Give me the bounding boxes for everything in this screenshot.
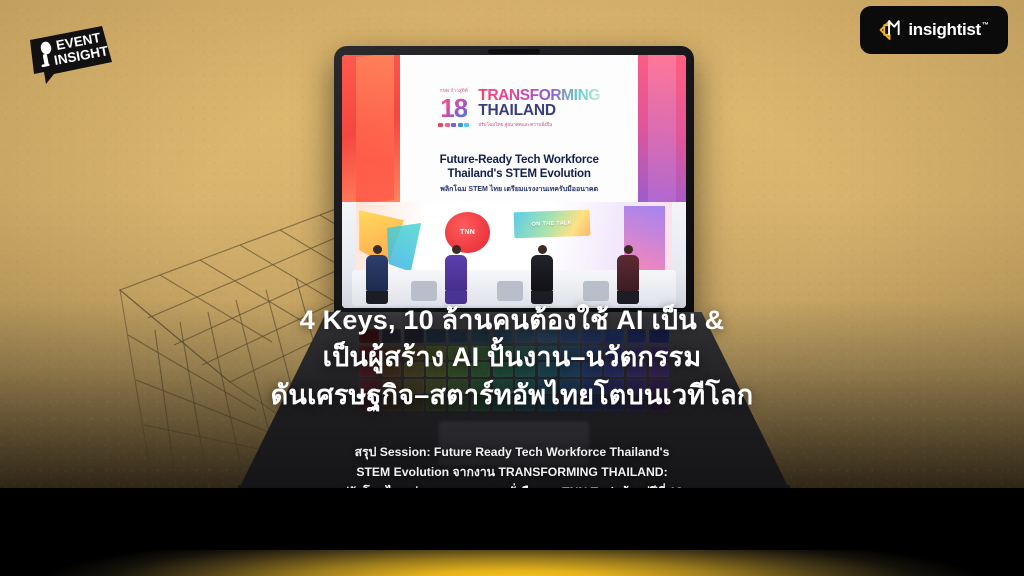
headline-line-2: เป็นผู้สร้าง AI ปั้นงาน–นวัตกรรม [40, 339, 984, 376]
headline: 4 Keys, 10 ล้านคนต้องใช้ AI เป็น & เป็นผ… [0, 302, 1024, 414]
session-title-block: Future-Ready Tech Workforce Thailand's S… [407, 146, 631, 202]
headline-line-3: ดันเศรษฐกิจ–สตาร์ทอัพไทยโตบนเวทีโลก [40, 377, 984, 414]
event-title-line1: TRANSFORMING [478, 88, 600, 104]
insightist-arrow-icon [879, 19, 903, 41]
panelist [445, 245, 467, 304]
event-insight-logo[interactable]: EVENT INSIGHT [24, 22, 118, 86]
sofa-pillow [411, 281, 437, 301]
stage-panel-photo: TNN ON THE TALK [342, 202, 686, 308]
panelist [366, 245, 388, 304]
event-logotype: TRANSFORMING THAILAND ปรับโฉมไทย สู่อนาค… [478, 88, 600, 129]
panelist [531, 245, 553, 304]
laptop-notch [488, 49, 540, 54]
bottom-gold-glow [0, 550, 1024, 576]
presentation-slide: TNN ก้าวสู่ปีที่ 18 TRANSFORMING THAILAN… [342, 55, 686, 308]
insightist-badge[interactable]: insightist™ [860, 6, 1008, 54]
session-title-line1: Future-Ready Tech Workforce [440, 153, 599, 167]
event-tagline: ปรับโฉมไทย สู่อนาคตและความยั่งยืน [478, 122, 552, 129]
anniversary-number: 18 [440, 95, 467, 121]
subheadline-line-2: STEM Evolution จากงาน TRANSFORMING THAIL… [120, 463, 904, 483]
session-subtitle: พลิกโฉม STEM ไทย เตรียมแรงงานเทครับมืออน… [440, 184, 598, 195]
session-title-line2: Thailand's STEM Evolution [447, 167, 590, 181]
anniversary-badge: TNN ก้าวสู่ปีที่ 18 [438, 89, 469, 126]
panelist [617, 245, 639, 304]
insightist-wordmark: insightist™ [908, 20, 988, 40]
slide-decor-left-2 [356, 55, 394, 204]
slide-header: TNN ก้าวสู่ปีที่ 18 TRANSFORMING THAILAN… [400, 65, 637, 151]
headline-line-1: 4 Keys, 10 ล้านคนต้องใช้ AI เป็น & [40, 302, 984, 339]
thumbnail-canvas: TNN ก้าวสู่ปีที่ 18 TRANSFORMING THAILAN… [0, 0, 1024, 576]
trademark-symbol: ™ [982, 22, 989, 29]
on-the-talk-banner: ON THE TALK [514, 210, 591, 238]
laptop-mockup: TNN ก้าวสู่ปีที่ 18 TRANSFORMING THAILAN… [238, 46, 790, 496]
laptop-lid: TNN ก้าวสู่ปีที่ 18 TRANSFORMING THAILAN… [334, 46, 694, 324]
event-title-line2: THAILAND [478, 103, 556, 119]
slide-decor-right-2 [648, 55, 676, 212]
subheadline-line-1: สรุป Session: Future Ready Tech Workforc… [120, 443, 904, 463]
sofa-pillow [583, 281, 609, 301]
insightist-wordmark-text: insightist [908, 20, 981, 40]
sofa-pillow [497, 281, 523, 301]
laptop-screen: TNN ก้าวสู่ปีที่ 18 TRANSFORMING THAILAN… [342, 55, 686, 308]
anniversary-dots [438, 123, 469, 127]
